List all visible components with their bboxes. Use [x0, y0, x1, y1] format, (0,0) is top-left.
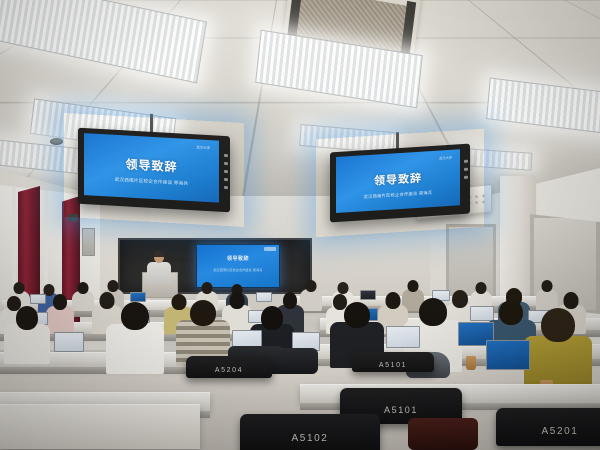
label-a5102: A5102	[240, 433, 380, 444]
tv-side-button[interactable]	[464, 160, 468, 163]
wall-speaker-icon	[82, 228, 95, 256]
ceiling-mounted-tv-right: 武汉大学 领导致辞 武汉西南片区校企合作座谈 郑海兵	[330, 144, 470, 223]
label-a5101-rear: A5101	[352, 362, 434, 369]
audience-person-foreground	[106, 302, 164, 368]
ceiling-camera-icon	[68, 214, 78, 222]
chair-a5101-rear[interactable]: A5101	[352, 352, 434, 372]
slide-logo-text: 武汉大学	[439, 155, 452, 161]
laptop[interactable]	[256, 292, 272, 302]
coffee-cup	[466, 356, 476, 370]
tv-side-button[interactable]	[224, 170, 228, 173]
ceiling-mounted-tv-left: 武汉大学 领导致辞 武汉西南片区校企合作座谈 郑海兵	[78, 128, 230, 212]
front-screen-subtitle: 武汉西南片区校企合作座谈 郑海兵	[197, 268, 279, 272]
tv-screen-left: 武汉大学 领导致辞 武汉西南片区校企合作座谈 郑海兵	[84, 133, 219, 203]
chair-a5201[interactable]: A5201	[496, 408, 600, 446]
chair-a5204[interactable]: A5204	[186, 356, 272, 378]
tv-right-subtitle: 武汉西南片区校企合作座谈 郑海兵	[336, 188, 460, 202]
chair-a5102[interactable]: A5102	[240, 414, 380, 450]
front-screen-headline: 领导致辞	[197, 255, 279, 262]
tv-left-headline: 领导致辞	[84, 153, 219, 178]
audience-person	[72, 282, 94, 308]
label-a5204: A5204	[186, 367, 272, 374]
tv-side-button[interactable]	[224, 178, 228, 181]
laptop[interactable]	[30, 294, 46, 304]
presenter-body	[147, 262, 171, 284]
tv-side-button[interactable]	[464, 176, 468, 179]
tv-side-button[interactable]	[224, 186, 228, 189]
laptop[interactable]	[386, 326, 420, 348]
tv-side-button[interactable]	[464, 168, 468, 171]
tv-right-headline: 领导致辞	[336, 167, 460, 191]
label-a5201: A5201	[496, 426, 600, 437]
classroom-photo: 领导致辞 武汉西南片区校企合作座谈 郑海兵 武汉大学 领导致辞 武汉西南片区校企…	[0, 0, 600, 450]
desk-bottom-left	[0, 404, 200, 449]
laptop[interactable]	[360, 290, 376, 300]
presenter	[146, 252, 172, 282]
smoke-detector-icon	[50, 138, 63, 145]
laptop[interactable]	[54, 332, 84, 352]
slide-logo-text: 武汉大学	[196, 144, 210, 150]
audience-person	[176, 300, 230, 362]
slide-logo-icon	[264, 247, 276, 251]
laptop-foreground[interactable]	[486, 340, 530, 370]
laptop[interactable]	[130, 292, 146, 302]
audience-person	[46, 294, 74, 330]
presenter-hair	[154, 251, 164, 257]
tv-side-button[interactable]	[224, 154, 228, 157]
bag-foreground	[408, 418, 478, 450]
tv-side-button[interactable]	[224, 162, 228, 165]
tv-left-subtitle: 武汉西南片区校企合作座谈 郑海兵	[84, 175, 219, 189]
audience-person	[536, 280, 558, 308]
audience-person	[4, 306, 50, 360]
tv-screen-right: 武汉大学 领导致辞 武汉西南片区校企合作座谈 郑海兵	[336, 149, 460, 213]
